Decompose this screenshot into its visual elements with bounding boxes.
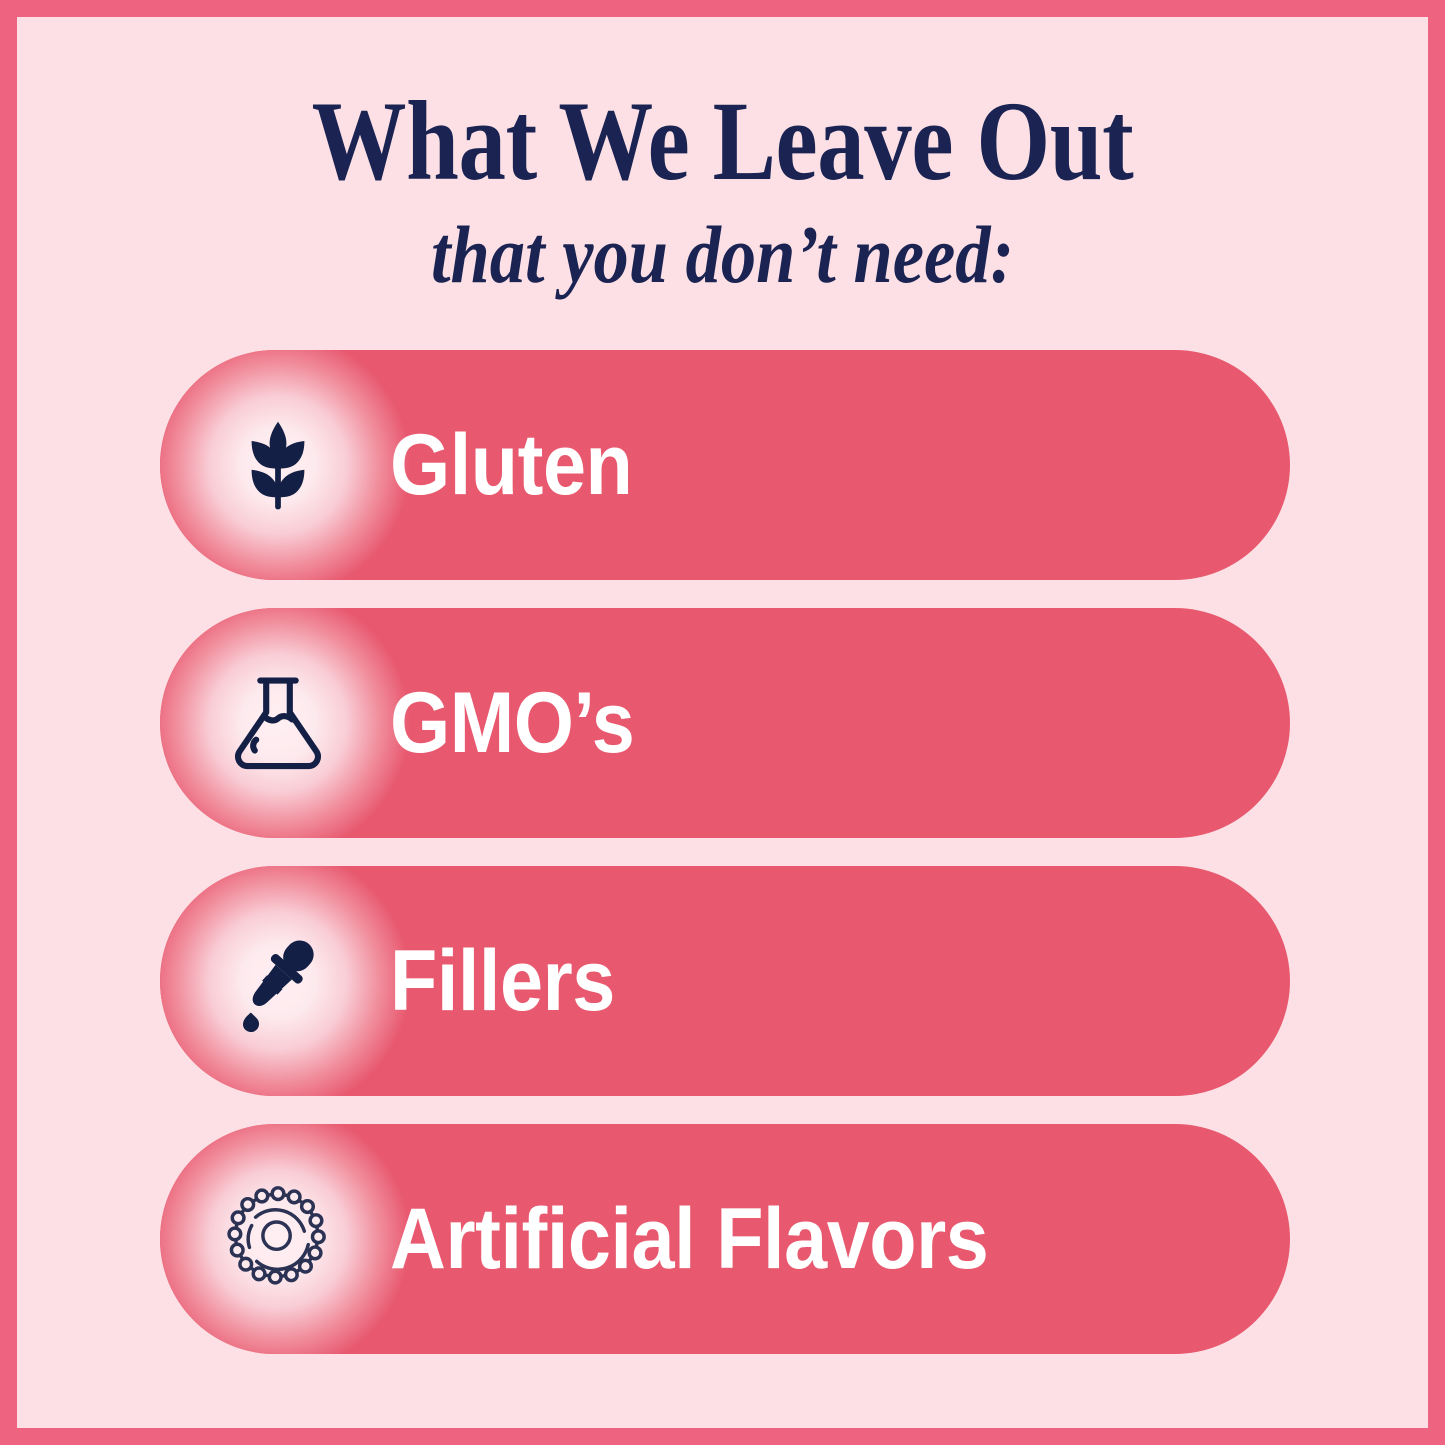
molecule-ring-icon: [160, 1183, 396, 1295]
list-item[interactable]: Fillers: [160, 866, 1290, 1096]
page-title: What We Leave Out: [130, 85, 1315, 198]
list-item-label: Artificial Flavors: [390, 1196, 988, 1282]
page-subtitle: that you don’t need:: [116, 214, 1329, 296]
list-item-label: Gluten: [390, 422, 632, 508]
erlenmeyer-flask-icon: [160, 664, 396, 782]
eyedropper-icon: [160, 920, 396, 1042]
heading-block: What We Leave Out that you don’t need:: [17, 17, 1428, 296]
list-item-label: GMO’s: [390, 680, 634, 766]
list-item[interactable]: GMO’s: [160, 608, 1290, 838]
exclusions-list: Gluten GMO’s: [160, 350, 1290, 1354]
list-item[interactable]: Gluten: [160, 350, 1290, 580]
wheat-grain-icon: [160, 405, 396, 525]
poster-inner: What We Leave Out that you don’t need:: [17, 17, 1428, 1428]
list-item[interactable]: Artificial Flavors: [160, 1124, 1290, 1354]
list-item-label: Fillers: [390, 938, 615, 1024]
poster-frame: What We Leave Out that you don’t need:: [0, 0, 1445, 1445]
